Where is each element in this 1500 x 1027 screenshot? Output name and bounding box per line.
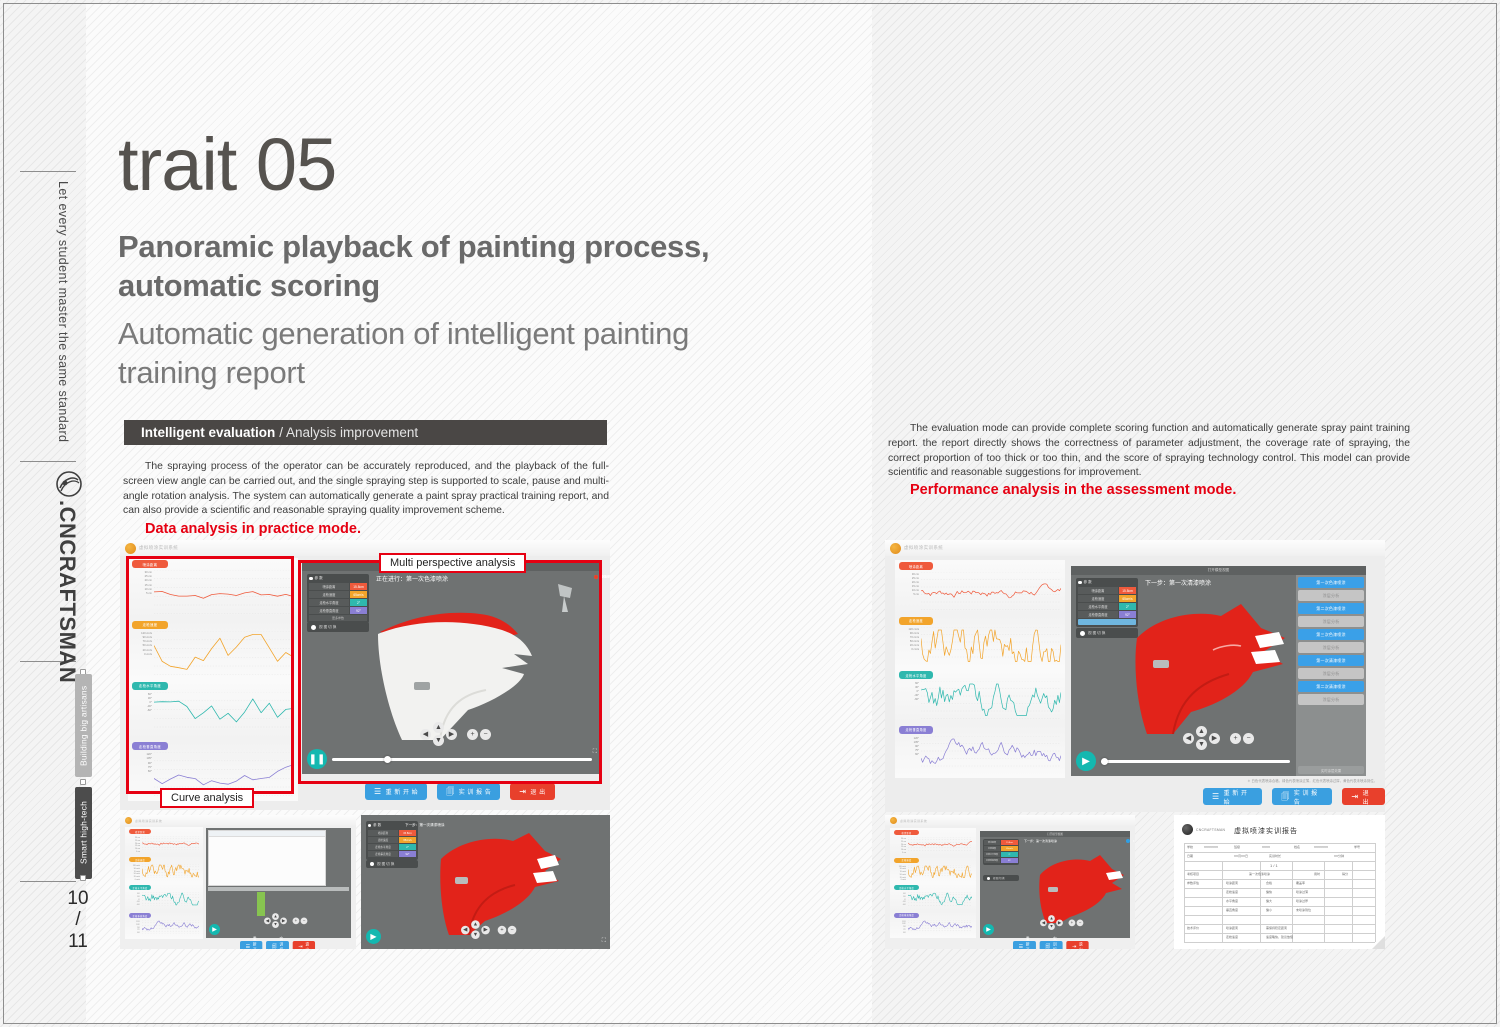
parameter-card-title: 参 数 <box>1084 580 1092 585</box>
zoom-in-icon[interactable]: + <box>293 917 300 924</box>
parameter-value: 92° <box>399 851 416 857</box>
step-item[interactable]: 涂层分析 <box>1298 590 1364 601</box>
exit-icon: ⇥ <box>1351 793 1358 801</box>
fender-model-3d <box>352 590 582 740</box>
table-rule <box>1324 861 1325 942</box>
table-cell: 偏大 <box>1266 899 1272 903</box>
nav-right-icon[interactable]: ▶ <box>1056 919 1063 926</box>
app-title: 虚拟喷涂实训系统 <box>139 545 178 551</box>
table-cell: 姓名 <box>1294 845 1300 849</box>
axis-tick-label: 5 cm <box>130 592 152 596</box>
assessment-mode-screenshot[interactable]: 虚拟喷涂实训系统 喷涂距离30 cm25 cm20 cm15 cm10 cm5 … <box>885 540 1385 812</box>
report-icon: 🗐 <box>446 788 455 796</box>
parameter-name: 走枪速度 <box>368 837 398 843</box>
table-cell: 参数评估 <box>1187 881 1199 885</box>
curve-y-axis-labels: 120°105°90°75°60° <box>892 921 906 935</box>
table-cell: 覆盖率 <box>1296 881 1305 885</box>
curve-y-axis-labels: 30 cm25 cm20 cm15 cm10 cm5 cm <box>130 571 152 596</box>
fender-model-covered <box>1129 602 1289 734</box>
rail-slogan: Let every student master the same standa… <box>56 181 70 442</box>
play-button[interactable]: ▶ <box>366 929 381 944</box>
curve-group: 走枪垂直角度120°105°90°75°60° <box>895 724 1065 779</box>
axis-tick-label: 0 cm/s <box>897 648 919 652</box>
app-header: 虚拟喷涂实训系统 <box>120 540 610 556</box>
parameter-row: 走枪速度65cm/s <box>1078 595 1136 602</box>
parameter-row: 走枪水平角度2° <box>368 844 416 850</box>
parameter-value: 65cm/s <box>1001 846 1018 851</box>
curve-group: 走枪垂直角度120°105°90°75°60° <box>890 911 976 939</box>
table-rule <box>1184 897 1375 898</box>
nav-up-icon[interactable]: ▲ <box>471 920 480 929</box>
parameter-value: 15.8cm <box>350 583 367 590</box>
curve-plot <box>154 570 294 614</box>
view-switch-button[interactable]: 视 图 切 换 <box>366 860 418 868</box>
more-parameters-button[interactable] <box>1078 619 1136 625</box>
action-button[interactable]: 🗐实 训 报 告 <box>266 941 289 949</box>
action-button[interactable]: ⇥退 出 <box>1342 788 1385 805</box>
axis-tick-label: -60° <box>127 904 140 907</box>
nav-down-icon[interactable]: ▼ <box>1196 739 1207 750</box>
legend-swatch <box>1126 839 1130 843</box>
action-button-label: 实 训 报 告 <box>459 787 492 796</box>
cncraftsman-logo-icon <box>56 471 82 497</box>
model-navigation-pad[interactable]: ◀ ▲▼ ▶ + − <box>1040 915 1083 930</box>
zoom-in-icon[interactable]: + <box>1230 733 1241 744</box>
table-rule <box>1184 861 1375 862</box>
action-buttons[interactable]: ☰重 新 开 始🗐实 训 报 告⇥退 出 <box>1013 941 1089 949</box>
app-title: 虚拟喷涂实训系统 <box>135 819 162 823</box>
curve-group: 走枪速度120 cm/s90 cm/s70 cm/s50 cm/s20 cm/s… <box>895 615 1065 670</box>
table-rule <box>1292 861 1293 942</box>
action-button[interactable]: 🗐实 训 报 告 <box>437 783 500 800</box>
viewer-status-assessment: 下一步：第一次清漆喷涂 <box>1145 578 1211 587</box>
left-rail: Let every student master the same standa… <box>20 3 86 1024</box>
zoom-out-icon[interactable]: − <box>1077 919 1084 926</box>
curve-plot <box>921 627 1061 665</box>
parameter-value: 92° <box>1001 858 1018 863</box>
fender-model-covered <box>1034 853 1126 923</box>
model-navigation-pad[interactable]: ◀ ▲▼ ▶ + − <box>461 920 516 939</box>
curve-y-axis-labels: 120°105°90°75°60° <box>127 921 140 935</box>
step-item[interactable]: 涂层分析 <box>1298 668 1364 679</box>
poster-page: Let every student master the same standa… <box>0 0 1500 1027</box>
table-cell: 学号 <box>1354 845 1360 849</box>
legend-label: 13.7% <box>1133 839 1135 843</box>
parameter-name: 喷涂距离 <box>984 840 1000 845</box>
table-cell: XXXXXXX <box>1314 845 1328 849</box>
app-header: 虚拟喷涂实训系统 <box>885 540 1385 556</box>
parameter-name: 走枪垂直角度 <box>368 851 398 857</box>
curve-plot <box>921 681 1061 719</box>
zoom-out-icon[interactable]: − <box>508 925 517 934</box>
report-logo-icon <box>1182 824 1193 835</box>
view-switch-label: 视 图 切 换 <box>1088 631 1105 636</box>
left-paragraph: The spraying process of the operator can… <box>123 460 609 519</box>
parameter-row: 喷涂距离15.8cm <box>309 583 367 590</box>
nav-left-icon[interactable]: ◀ <box>420 729 431 740</box>
callout-multi-perspective: Multi perspective analysis <box>379 553 526 573</box>
table-cell: XXXXXXX <box>1204 845 1218 849</box>
nav-left-icon[interactable]: ◀ <box>264 917 271 924</box>
curve-y-axis-labels: 30 cm25 cm20 cm15 cm10 cm5 cm <box>127 837 140 854</box>
table-rule <box>1184 843 1185 942</box>
action-button[interactable]: 🗐实 训 报 告 <box>1272 788 1332 805</box>
view-switch-label: 视 图 切 换 <box>993 876 1005 880</box>
thumbnail-training-report[interactable]: CNCRAFTSMAN 虚拟喷漆实训报告 学校XXXXXXX班级XXXX姓名XX… <box>1174 815 1385 949</box>
exit-icon: ⇥ <box>298 944 302 949</box>
bullet-icon <box>368 824 371 827</box>
parameter-name: 走枪速度 <box>309 591 349 598</box>
action-button[interactable]: ☰重 新 开 始 <box>365 783 427 800</box>
table-cell: XX月XX日 <box>1234 854 1248 858</box>
action-button-label: 退 出 <box>1079 941 1083 949</box>
action-button[interactable]: 🗐实 训 报 告 <box>1040 941 1063 949</box>
action-button-label: 重 新 开 始 <box>253 935 257 949</box>
parameter-row: 走枪水平角度2° <box>984 852 1018 857</box>
parameter-value: 2° <box>399 844 416 850</box>
step-item[interactable]: 第一次色漆喷涂 <box>1298 577 1364 588</box>
curve-group-tag: 走枪垂直角度 <box>132 742 168 750</box>
zoom-in-icon[interactable]: + <box>1069 919 1076 926</box>
parameter-row: 走枪垂直角度92° <box>1078 611 1136 618</box>
playback-progress-bar[interactable] <box>332 758 592 761</box>
zoom-out-icon[interactable]: − <box>1243 733 1254 744</box>
curve-y-axis-labels: 60°30°0°-30°-60° <box>127 893 140 907</box>
curve-group: 走枪速度120 cm/s90 cm/s70 cm/s50 cm/s20 cm/s… <box>128 619 298 680</box>
zoom-in-icon[interactable]: + <box>498 925 507 934</box>
action-buttons[interactable]: ☰重 新 开 始🗐实 训 报 告⇥退 出 <box>240 941 315 949</box>
table-cell: 班级 <box>1234 845 1240 849</box>
parameter-name: 走枪水平角度 <box>984 852 1000 857</box>
curve-group: 走枪水平角度60°30°0°-30°-60° <box>890 883 976 911</box>
coverage-footnote: ＊ 白色代表喷涂合格，绿色代表喷涂过薄，红色代表喷涂过厚，黄色代表未喷涂到位。 <box>1247 778 1377 783</box>
curve-plot <box>154 692 294 736</box>
parameter-value: 65cm/s <box>1119 595 1136 602</box>
curve-y-axis-labels: 120°105°90°75°60° <box>130 753 152 774</box>
nav-right-icon[interactable]: ▶ <box>446 729 457 740</box>
thumbnail-parameter-setup[interactable]: 虚拟喷涂实训系统 喷涂距离30 cm25 cm20 cm15 cm10 cm5 … <box>120 815 356 949</box>
nav-right-icon[interactable]: ▶ <box>280 917 287 924</box>
view-switch-label: 视 图 切 换 <box>377 862 394 867</box>
table-cell: 实训时长 <box>1269 854 1281 858</box>
curve-plot <box>908 865 972 879</box>
parameter-row: 喷涂距离15.8cm <box>1078 587 1136 594</box>
curve-analysis-panel[interactable]: 喷涂距离30 cm25 cm20 cm15 cm10 cm5 cm 走枪速度12… <box>128 558 298 801</box>
action-button[interactable]: ⇥退 出 <box>1066 941 1088 949</box>
app-logo-icon <box>890 817 897 824</box>
axis-tick-label: 0 cm/s <box>130 653 152 657</box>
report-title: 虚拟喷漆实训报告 <box>1234 826 1298 836</box>
exit-icon: ⇥ <box>1072 944 1076 949</box>
curve-group-tag: 走枪水平角度 <box>129 885 151 890</box>
table-cell: 第一次色漆喷涂 <box>1249 872 1270 876</box>
axis-tick-label: -60° <box>897 698 919 702</box>
nav-right-icon[interactable]: ▶ <box>1209 733 1220 744</box>
curve-y-axis-labels: 60°30°0°-30°-60° <box>892 893 906 907</box>
curve-group: 走枪速度120 cm/s90 cm/s70 cm/s50 cm/s20 cm/s… <box>890 856 976 884</box>
curve-analysis-panel[interactable]: 喷涂距离30 cm25 cm20 cm15 cm10 cm5 cm 走枪速度12… <box>890 828 976 938</box>
badge-building-big-artisans: Building big artisans <box>75 674 92 777</box>
parameter-rows: 喷涂距离15.8cm走枪速度65cm/s走枪水平角度2°走枪垂直角度92° <box>984 840 1018 863</box>
table-cell: 未喷涂到位 <box>1296 908 1311 912</box>
nav-left-icon[interactable]: ◀ <box>1183 733 1194 744</box>
parameter-card-title: 参 数 <box>315 576 323 581</box>
app-logo-icon <box>125 817 132 824</box>
legend-label: 0% <box>601 574 607 579</box>
step-item[interactable]: 涂层分析 <box>1298 616 1364 627</box>
nav-up-icon[interactable]: ▲ <box>1048 915 1055 922</box>
axis-tick-label: 5 cm <box>892 852 906 855</box>
curve-group-tag: 走枪速度 <box>894 858 919 863</box>
viewer-status: 下一步：第一次清漆喷涂 <box>1024 839 1057 843</box>
curve-group-tag: 走枪水平角度 <box>899 671 933 679</box>
table-rule <box>1184 933 1375 934</box>
progress-knob[interactable] <box>1101 758 1108 765</box>
table-rule <box>1352 861 1353 942</box>
parameter-value: 15.8cm <box>399 830 416 836</box>
banner-strong: Intelligent evaluation <box>141 425 275 440</box>
action-button[interactable]: ⇥退 出 <box>293 941 315 949</box>
action-buttons-practice[interactable]: ☰重 新 开 始🗐实 训 报 告⇥退 出 <box>365 783 555 800</box>
headline-light: Automatic generation of intelligent pain… <box>118 315 738 393</box>
curve-y-axis-labels: 120 cm/s90 cm/s70 cm/s50 cm/s20 cm/s0 cm… <box>897 628 919 652</box>
curve-plot <box>921 736 1061 774</box>
parameter-row: 走枪速度65cm/s <box>984 846 1018 851</box>
table-cell: XXXX <box>1262 845 1270 849</box>
model-viewer-practice[interactable]: 打开模型视图 参 数 喷涂距离15.8cm走枪速度65cm/s走枪水平角度2°走… <box>302 562 602 774</box>
curve-group-tag: 喷涂距离 <box>894 830 919 835</box>
action-button-label: 退 出 <box>1363 788 1376 806</box>
fender-model-covered <box>433 829 563 935</box>
parameter-name: 走枪速度 <box>984 846 1000 851</box>
axis-tick-label: -60° <box>130 709 152 713</box>
curve-group-tag: 喷涂距离 <box>899 562 933 570</box>
parameter-card[interactable]: 喷涂距离15.8cm走枪速度65cm/s走枪水平角度2°走枪垂直角度92° <box>983 839 1019 865</box>
play-button[interactable]: ▶ <box>1076 751 1096 771</box>
curve-plot <box>908 892 972 906</box>
action-button-label: 实 训 报 告 <box>1053 935 1057 949</box>
table-cell: XX分钟 <box>1334 854 1344 858</box>
parameter-row: 喷涂距离15.8cm <box>368 830 416 836</box>
play-button[interactable]: ▶ <box>983 924 994 935</box>
table-cell: 喷涂距离 <box>1226 881 1238 885</box>
exit-icon: ⇥ <box>519 788 526 796</box>
axis-tick-label: 60° <box>897 753 919 757</box>
practice-mode-screenshot[interactable]: 虚拟喷涂实训系统 喷涂距离30 cm25 cm20 cm15 cm10 cm5 … <box>120 540 610 810</box>
nav-vertical-group[interactable]: ▲ ▼ <box>433 722 444 746</box>
step-item[interactable]: 第二次清漆喷涂 <box>1298 681 1364 692</box>
nav-down-icon[interactable]: ▼ <box>272 921 279 928</box>
curve-analysis-panel[interactable]: 喷涂距离30 cm25 cm20 cm15 cm10 cm5 cm 走枪速度12… <box>895 560 1065 778</box>
action-buttons-assessment[interactable]: ☰重 新 开 始🗐实 训 报 告⇥退 出 <box>1203 788 1385 805</box>
parameter-row: 喷涂距离15.8cm <box>984 840 1018 845</box>
curve-analysis-panel[interactable]: 喷涂距离30 cm25 cm20 cm15 cm10 cm5 cm 走枪速度12… <box>125 827 203 939</box>
parameter-row: 走枪速度65cm/s <box>368 837 416 843</box>
curve-group-tag: 走枪垂直角度 <box>129 913 151 918</box>
thumbnail-assessment-replay[interactable]: 虚拟喷涂实训系统 喷涂距离30 cm25 cm20 cm15 cm10 cm5 … <box>885 815 1135 949</box>
nav-up-icon[interactable]: ▲ <box>433 722 444 733</box>
model-viewer-assessment[interactable]: 打开模型视图 参 数 喷涂距离15.8cm走枪速度65cm/s走枪水平角度2°走… <box>1071 566 1366 776</box>
parameter-name: 喷涂距离 <box>1078 587 1118 594</box>
view-switch-button[interactable]: 视 图 切 换 <box>983 875 1019 881</box>
table-rule <box>1184 915 1375 916</box>
parameter-name: 走枪速度 <box>1078 595 1118 602</box>
rail-divider <box>20 881 76 882</box>
app-title: 虚拟喷涂实训系统 <box>904 545 943 551</box>
zoom-in-icon[interactable]: + <box>467 729 478 740</box>
table-rule <box>1184 942 1375 943</box>
nav-up-icon[interactable]: ▲ <box>1196 726 1207 737</box>
nav-down-icon[interactable]: ▼ <box>433 735 444 746</box>
left-red-heading: Data analysis in practice mode. <box>145 521 361 537</box>
table-cell: 偏快 <box>1266 890 1272 894</box>
view-switch-label: 视 图 切 换 <box>319 625 336 630</box>
nav-down-icon[interactable]: ▼ <box>1048 923 1055 930</box>
page-number: 10 / 11 <box>54 888 102 952</box>
step-item[interactable]: 涂层分析 <box>1298 694 1364 705</box>
viewer-titlebar: 打开模型视图 <box>1071 566 1366 575</box>
action-button[interactable]: ⇥退 出 <box>510 783 554 800</box>
step-item[interactable]: 第一次清漆喷涂 <box>1298 655 1364 666</box>
curve-plot <box>142 920 199 934</box>
right-red-heading: Performance analysis in the assessment m… <box>910 482 1236 498</box>
axis-tick-label: 60° <box>127 932 140 935</box>
table-cell: 垂直角度 <box>1226 908 1238 912</box>
model-navigation-pad[interactable]: ◀ ▲▼ ▶ + − <box>1183 726 1254 750</box>
zoom-out-icon[interactable]: − <box>301 917 308 924</box>
badge-dot <box>80 875 86 881</box>
parameter-name: 走枪水平角度 <box>309 599 349 606</box>
report-brand: CNCRAFTSMAN <box>1196 828 1225 832</box>
playback-progress-bar[interactable] <box>1101 760 1290 763</box>
nav-down-icon[interactable]: ▼ <box>471 930 480 939</box>
step-list-footer: 实时涂层效果 <box>1298 766 1364 774</box>
nav-up-icon[interactable]: ▲ <box>272 913 279 920</box>
model-navigation-pad[interactable]: ◀ ▲ ▼ ▶ + − <box>420 722 491 746</box>
section-banner: Intelligent evaluation / Analysis improv… <box>124 420 607 445</box>
model-viewer[interactable]: ▶ ◀ ▲▼ ▶ + − <box>206 828 351 938</box>
fullscreen-icon[interactable]: ⛶ <box>602 938 606 945</box>
action-button-label: 退 出 <box>305 941 309 949</box>
table-cell: 技术评价 <box>1187 926 1199 930</box>
table-cell: 偏小 <box>1266 908 1272 912</box>
curve-plot <box>142 836 199 850</box>
nav-left-icon[interactable]: ◀ <box>1040 919 1047 926</box>
report-icon: 🗐 <box>272 944 277 949</box>
curve-group: 走枪速度120 cm/s90 cm/s70 cm/s50 cm/s20 cm/s… <box>125 855 203 883</box>
bullet-icon <box>1078 581 1082 585</box>
curve-group-tag: 喷涂距离 <box>132 560 168 568</box>
right-paragraph: The evaluation mode can provide complete… <box>888 422 1410 481</box>
table-cell: 喷涂过薄 <box>1296 890 1308 894</box>
table-cell: 喷涂距离 <box>1226 926 1238 930</box>
curve-group-tag: 走枪速度 <box>129 857 151 862</box>
report-icon: 🗐 <box>1045 944 1050 949</box>
step-list[interactable]: 第一次色漆喷涂涂层分析第二次色漆喷涂涂层分析第三次色漆喷涂涂层分析第一次清漆喷涂… <box>1296 575 1366 776</box>
curve-y-axis-labels: 30 cm25 cm20 cm15 cm10 cm5 cm <box>892 838 906 855</box>
parameter-name: 走枪水平角度 <box>1078 603 1118 610</box>
curve-group: 喷涂距离30 cm25 cm20 cm15 cm10 cm5 cm <box>128 558 298 619</box>
app-title: 虚拟喷涂实训系统 <box>900 819 927 823</box>
curve-y-axis-labels: 120 cm/s90 cm/s70 cm/s50 cm/s20 cm/s0 cm… <box>127 865 140 882</box>
bullet-icon <box>1080 631 1085 636</box>
parameter-row: 走枪垂直角度92° <box>984 858 1018 863</box>
list-icon: ☰ <box>246 944 251 949</box>
table-cell: 喷涂过厚 <box>1296 899 1308 903</box>
table-cell: 速度略快，建议放慢 <box>1266 935 1293 939</box>
curve-group: 走枪水平角度60°30°0°-30°-60° <box>125 883 203 911</box>
axis-tick-label: -60° <box>892 904 906 907</box>
parameter-form[interactable] <box>208 830 326 886</box>
curve-y-axis-labels: 60°30°0°-30°-60° <box>130 693 152 714</box>
nav-left-icon[interactable]: ◀ <box>461 925 470 934</box>
table-rule <box>1184 852 1375 853</box>
nav-right-icon[interactable]: ▶ <box>481 925 490 934</box>
list-icon: ☰ <box>374 788 382 796</box>
table-rule <box>1184 843 1375 844</box>
action-button[interactable]: ☰重 新 开 始 <box>240 941 262 949</box>
curve-group-tag: 走枪垂直角度 <box>894 913 919 918</box>
parameter-value: 15.8cm <box>1001 840 1018 845</box>
parameter-name: 走枪垂直角度 <box>1078 611 1118 618</box>
viewer-titlebar: 打开模型视图 <box>980 831 1130 837</box>
axis-tick-label: 60° <box>892 932 906 935</box>
model-navigation-pad[interactable]: ◀ ▲▼ ▶ + − <box>264 913 307 928</box>
table-cell: 用时 <box>1314 872 1320 876</box>
table-cell: 得分 <box>1342 872 1348 876</box>
curve-y-axis-labels: 120 cm/s90 cm/s70 cm/s50 cm/s20 cm/s0 cm… <box>892 866 906 883</box>
action-button[interactable]: ☰重 新 开 始 <box>1013 941 1036 949</box>
fullscreen-icon[interactable]: ⛶ <box>593 749 597 756</box>
step-item[interactable]: 第三次色漆喷涂 <box>1298 629 1364 640</box>
axis-tick-label: 0 cm/s <box>892 879 906 882</box>
step-item[interactable]: 第二次色漆喷涂 <box>1298 603 1364 614</box>
table-cell: 学校 <box>1187 845 1193 849</box>
table-cell: 水平角度 <box>1226 899 1238 903</box>
table-cell: 需保持稳定距离 <box>1266 926 1287 930</box>
parameter-card-title: 参 数 <box>373 823 381 828</box>
parameter-value: 65cm/s <box>399 837 416 843</box>
model-viewer[interactable]: 打开模型视图 喷涂距离15.8cm走枪速度65cm/s走枪水平角度2°走枪垂直角… <box>980 831 1130 938</box>
curve-group: 喷涂距离30 cm25 cm20 cm15 cm10 cm5 cm <box>890 828 976 856</box>
list-icon: ☰ <box>1019 944 1024 949</box>
curve-y-axis-labels: 60°30°0°-30°-60° <box>897 682 919 702</box>
action-button-label: 退 出 <box>530 787 545 796</box>
viewer-status: 下一步：第一次清漆喷涂 <box>405 823 445 828</box>
table-cell: 1 / 1 <box>1270 863 1278 868</box>
pause-button[interactable]: ❚❚ <box>307 749 327 769</box>
app-logo-icon <box>125 543 136 554</box>
zoom-out-icon[interactable]: − <box>480 729 491 740</box>
play-button[interactable]: ▶ <box>209 924 220 935</box>
app-header: 虚拟喷涂实训系统 <box>885 815 1135 826</box>
thumbnail-coverage-view[interactable]: 参 数 喷涂距离15.8cm走枪速度65cm/s走枪水平角度2°走枪垂直角度92… <box>361 815 610 949</box>
table-cell: 合格 <box>1266 881 1272 885</box>
curve-group-tag: 走枪水平角度 <box>894 885 919 890</box>
curve-group: 喷涂距离30 cm25 cm20 cm15 cm10 cm5 cm <box>125 827 203 855</box>
progress-knob[interactable] <box>384 756 391 763</box>
step-item[interactable]: 涂层分析 <box>1298 642 1364 653</box>
curve-y-axis-labels: 120 cm/s90 cm/s70 cm/s50 cm/s20 cm/s0 cm… <box>130 632 152 657</box>
callout-curve-analysis: Curve analysis <box>160 788 254 808</box>
parameter-card-header: 参 数 <box>1078 580 1136 585</box>
curve-y-axis-labels: 30 cm25 cm20 cm15 cm10 cm5 cm <box>897 573 919 597</box>
rail-divider <box>20 461 76 462</box>
table-rule <box>1375 843 1376 942</box>
badge-smart-high-tech: Smart high-tech <box>75 787 92 879</box>
parameter-name: 走枪垂直角度 <box>984 858 1000 863</box>
action-button[interactable]: ☰重 新 开 始 <box>1203 788 1262 805</box>
